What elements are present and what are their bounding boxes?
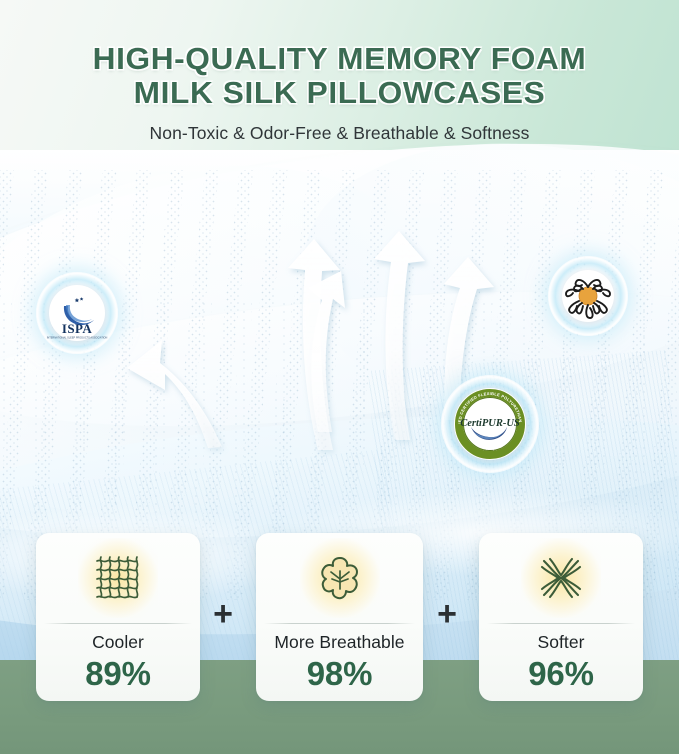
card-value: 98%: [256, 655, 423, 693]
woven-mesh-icon: [89, 549, 147, 607]
cotton-flower-icon: [311, 549, 369, 607]
card-value: 89%: [36, 655, 200, 693]
stat-card-softer[interactable]: Softer 96%: [479, 533, 643, 701]
infographic-canvas: HIGH-QUALITY MEMORY FOAM MILK SILK PILLO…: [0, 0, 679, 754]
card-icon-area: [479, 533, 643, 623]
card-icon-area: [256, 533, 423, 623]
stat-card-cooler[interactable]: Cooler 89%: [36, 533, 200, 701]
icon-glow: [525, 542, 597, 614]
card-icon-area: [36, 533, 200, 623]
card-divider: [44, 623, 192, 624]
card-label: Cooler: [36, 632, 200, 653]
icon-glow: [304, 542, 376, 614]
card-label: More Breathable: [256, 632, 423, 653]
plus-separator: +: [432, 600, 462, 630]
card-divider: [264, 623, 415, 624]
card-divider: [487, 623, 635, 624]
crossed-fibers-icon: [532, 549, 590, 607]
card-label: Softer: [479, 632, 643, 653]
card-value: 96%: [479, 655, 643, 693]
icon-glow: [82, 542, 154, 614]
plus-separator: +: [208, 600, 238, 630]
stat-cards: Cooler 89% +: [0, 0, 679, 754]
stat-card-more-breathable[interactable]: More Breathable 98%: [256, 533, 423, 701]
